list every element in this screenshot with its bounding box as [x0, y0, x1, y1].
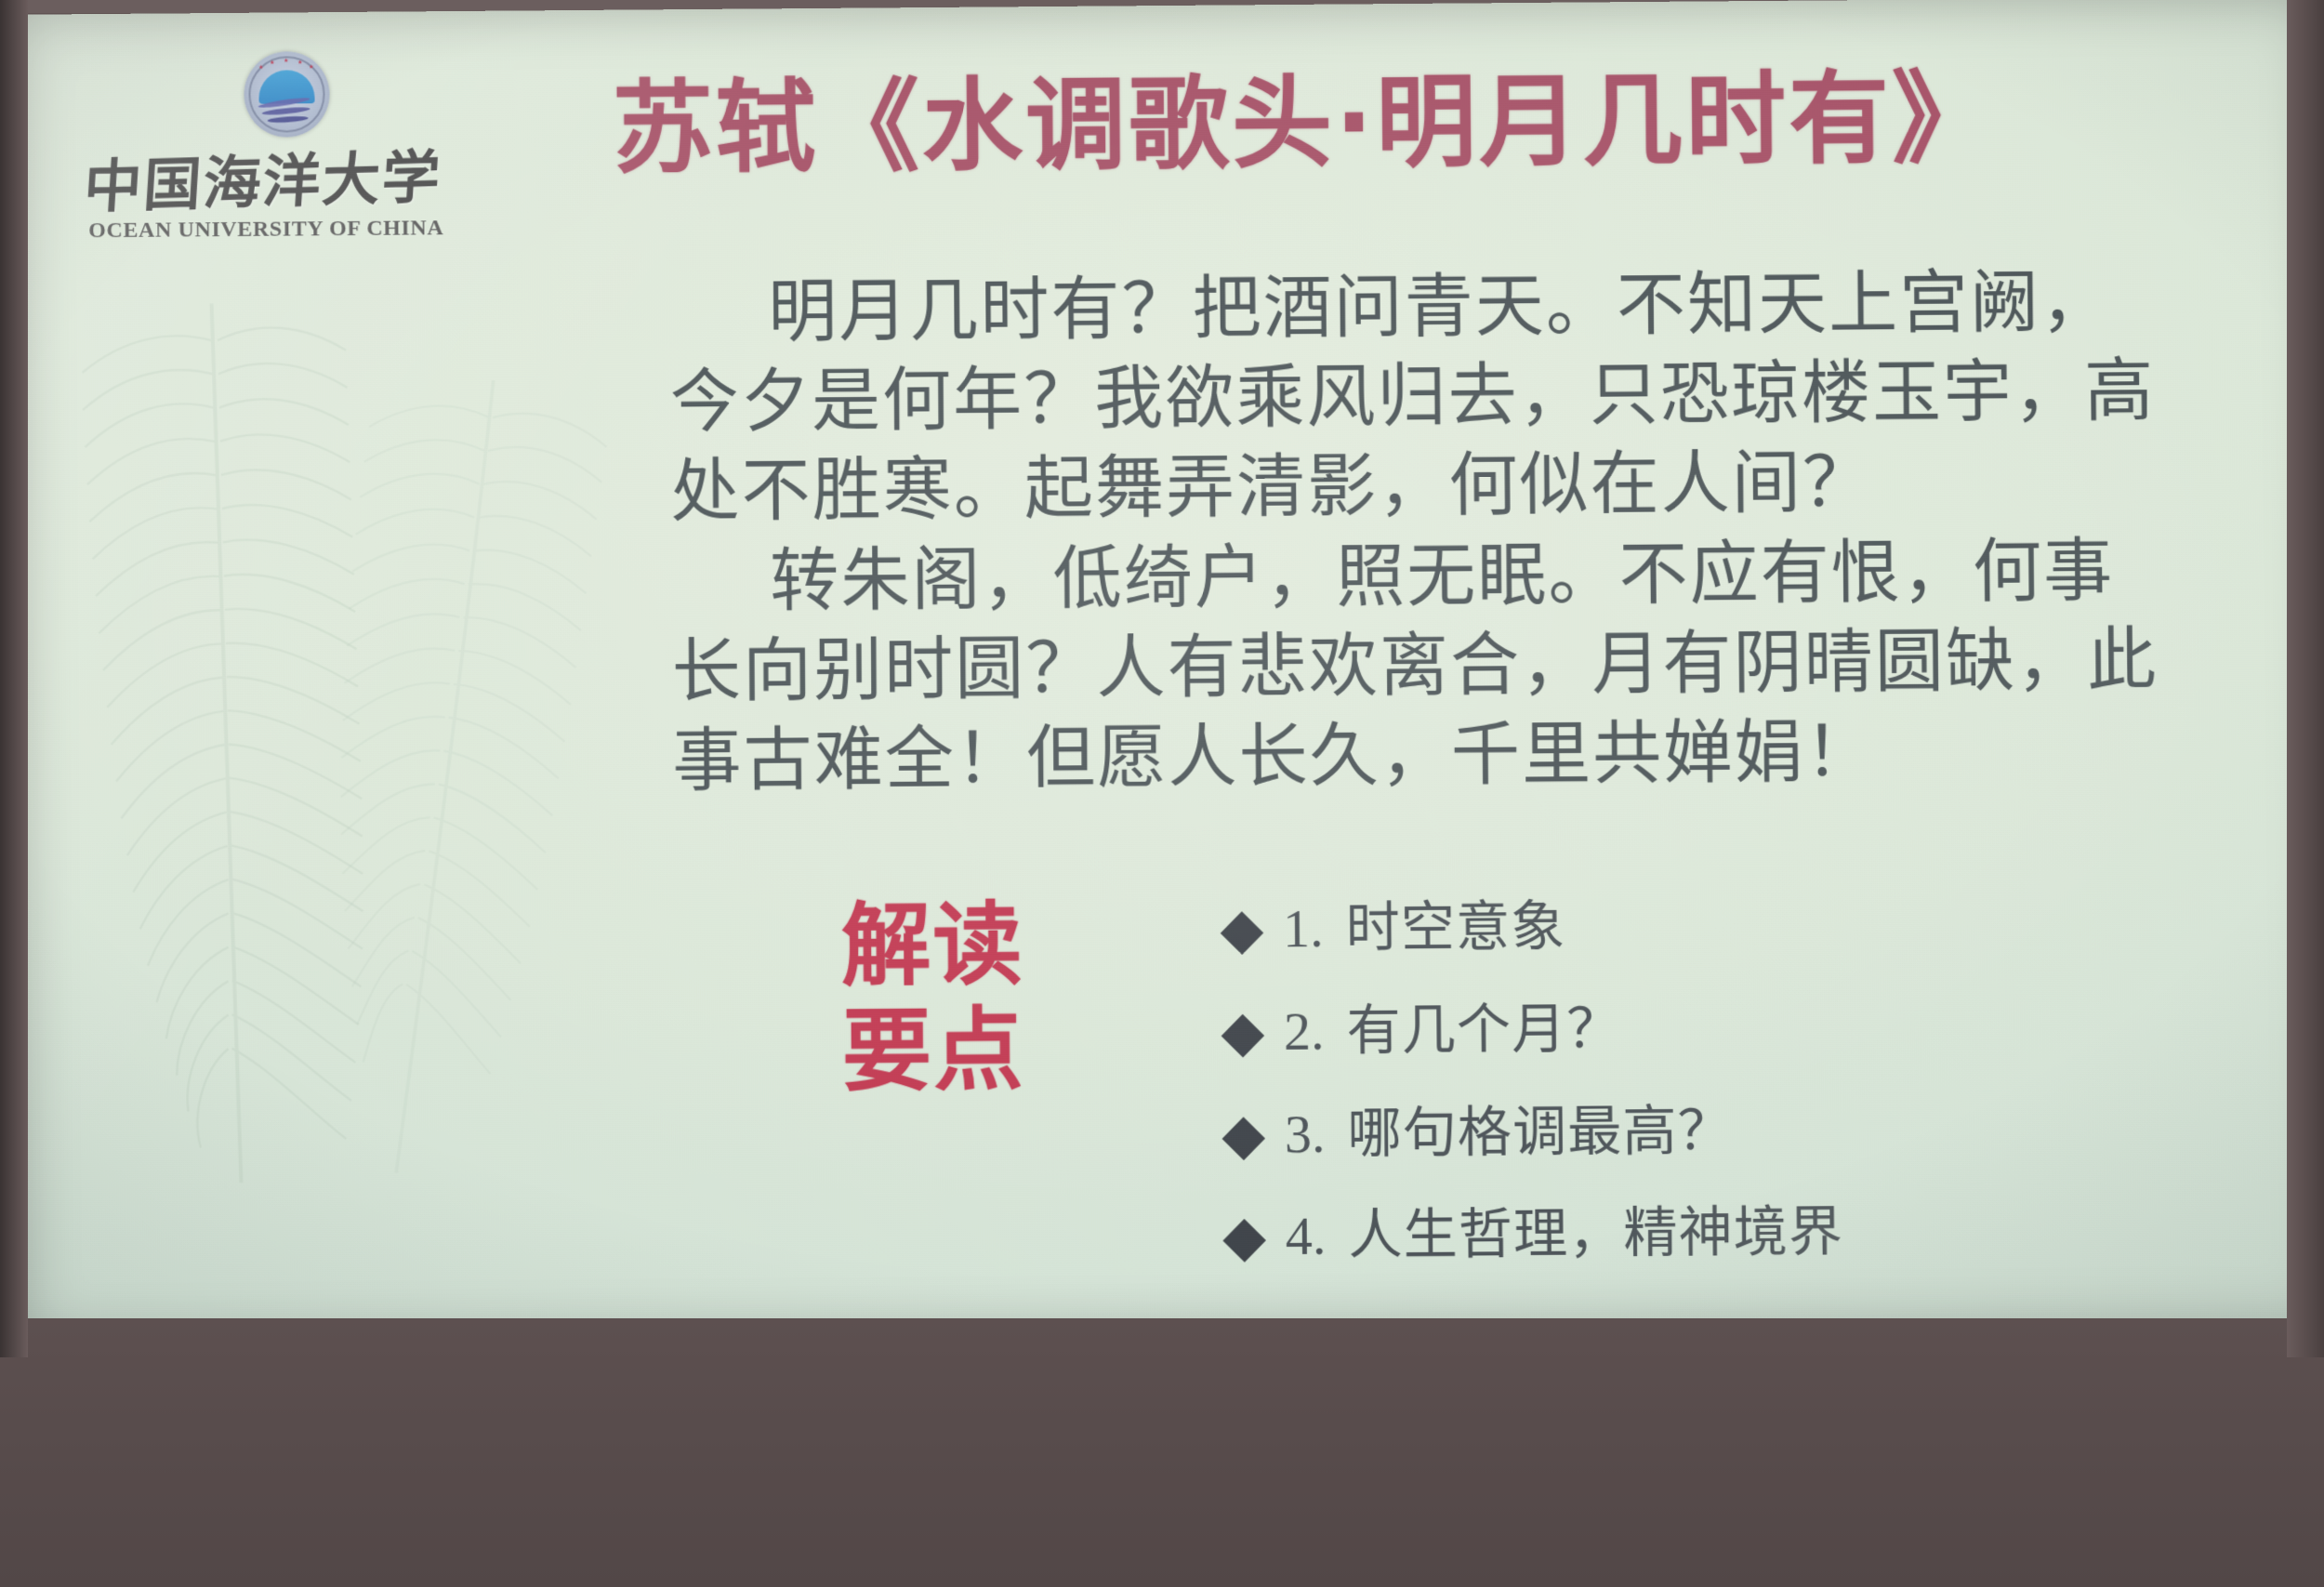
- poem-line: 今夕是何年？我欲乘风归去，只恐琼楼玉宇，高: [669, 345, 2251, 447]
- diamond-bullet-icon: [1222, 1117, 1266, 1160]
- list-item-number: 2.: [1284, 1001, 1325, 1061]
- analysis-heading: 解读 要点: [841, 892, 1096, 1314]
- wall-left-edge: [0, 0, 28, 1357]
- list-item: 3. 哪句格调最高？: [1224, 1096, 2297, 1164]
- poem-line: 事古难全！但愿人长久，千里共婵娟！: [672, 704, 2256, 806]
- university-name-chinese: 中国海洋大学: [82, 131, 403, 224]
- seal-stars: [257, 58, 316, 73]
- analysis-section: 解读 要点 1. 时空意象 2. 有几个月？ 3. 哪句格调最高？: [841, 882, 2299, 1314]
- list-item: 4. 人生哲理，精神境界: [1225, 1199, 2298, 1267]
- slide-title: 苏轼《水调歌头·明月几时有》: [612, 64, 2249, 183]
- diamond-bullet-icon: [1221, 911, 1263, 955]
- list-item-number: 3.: [1285, 1104, 1326, 1163]
- diamond-bullet-icon: [1221, 1014, 1265, 1058]
- feather-watermark-icon: [54, 268, 462, 1229]
- list-item-label: 时空意象: [1345, 897, 1565, 959]
- diamond-bullet-icon: [1222, 1219, 1266, 1263]
- list-item-label: 哪句格调最高？: [1347, 1101, 1733, 1163]
- seal-wave-shape: [257, 98, 318, 126]
- university-name-english: OCEAN UNIVERSITY OF CHINA: [88, 217, 404, 245]
- wall-below-screen: [0, 1318, 2324, 1587]
- list-item: 2. 有几个月？: [1224, 994, 2296, 1062]
- photo-scene: 中国海洋大学 OCEAN UNIVERSITY OF CHINA 苏轼《水调歌头…: [0, 0, 2324, 1587]
- poem-body: 明月几时有？把酒问青天。不知天上宫阙， 今夕是何年？我欲乘风归去，只恐琼楼玉宇，…: [669, 256, 2256, 806]
- university-logo: 中国海洋大学 OCEAN UNIVERSITY OF CHINA: [84, 33, 402, 287]
- poem-line: 处不胜寒。起舞弄清影，何似在人间？: [670, 435, 2253, 537]
- list-item-number: 4.: [1285, 1207, 1326, 1267]
- list-item-label: 有几个月？: [1346, 999, 1621, 1061]
- projection-screen: 中国海洋大学 OCEAN UNIVERSITY OF CHINA 苏轼《水调歌头…: [17, 0, 2324, 1342]
- wall-right-edge: [2287, 0, 2324, 1357]
- feather-watermark-secondary-icon: [301, 357, 633, 1212]
- poem-line: 长向别时圆？人有悲欢离合，月有阴晴圆缺，此: [671, 615, 2255, 717]
- list-item: 1. 时空意象: [1223, 892, 2295, 959]
- analysis-heading-line1: 解读: [841, 892, 1093, 999]
- analysis-heading-line2: 要点: [842, 997, 1095, 1104]
- analysis-point-list: 1. 时空意象 2. 有几个月？ 3. 哪句格调最高？ 4. 人生哲理，精神境界: [1092, 882, 2299, 1312]
- list-item-number: 1.: [1283, 899, 1324, 959]
- ocean-university-seal-icon: [244, 51, 330, 138]
- poem-line: 转朱阁，低绮户，照无眠。不应有恨，何事: [671, 524, 2254, 627]
- list-item-label: 人生哲理，精神境界: [1348, 1202, 1843, 1265]
- poem-line: 明月几时有？把酒问青天。不知天上宫阙，: [669, 256, 2251, 358]
